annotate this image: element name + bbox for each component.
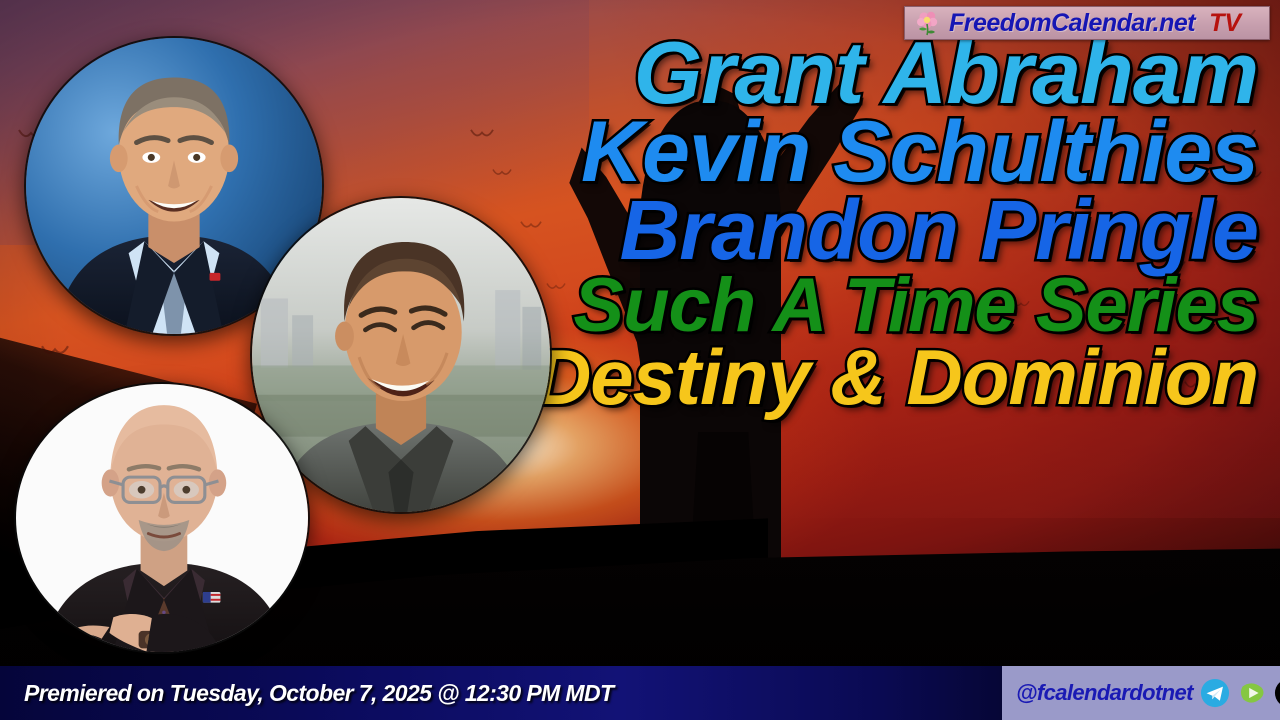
footer-bar: Premiered on Tuesday, October 7, 2025 @ … [0,666,1280,720]
logo-tv-suffix: TV [1209,9,1241,38]
logo-text: FreedomCalendar.net [949,9,1195,38]
portrait-brandon-pringle [14,382,310,654]
thumbnail-canvas: Grant Abraham Kevin Schulthies Brandon P… [0,0,1280,720]
rumble-icon[interactable] [1237,678,1267,708]
premiere-text: Premiered on Tuesday, October 7, 2025 @ … [24,680,613,707]
bird-icon [40,344,70,357]
title-line-kevin-schulthies: Kevin Schulthies [581,110,1258,194]
title-line-such-a-time-series: Such A Time Series [573,269,1258,343]
footer-social-panel: @fcalendardotnet [1002,666,1280,720]
x-icon[interactable] [1274,678,1280,708]
title-line-brandon-pringle: Brandon Pringle [620,189,1258,271]
title-line-destiny-and-dominion: Destiny & Dominion [535,339,1258,415]
flower-icon [915,10,941,36]
channel-logo-badge[interactable]: FreedomCalendar.net TV [904,6,1270,40]
footer-premiere-panel: Premiered on Tuesday, October 7, 2025 @ … [0,666,1002,720]
telegram-icon[interactable] [1200,678,1230,708]
social-handle: @fcalendardotnet [1016,680,1193,706]
